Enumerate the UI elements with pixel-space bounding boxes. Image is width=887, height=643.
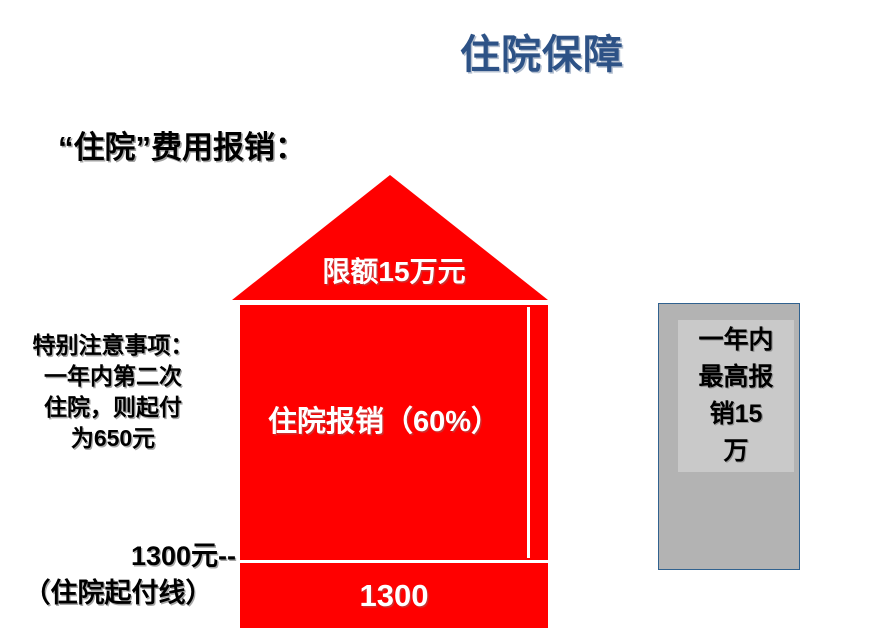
house-body-label: 住院报销（60%） — [240, 398, 528, 440]
annual-cap-panel-text: 一年内 最高报 销15 万 — [678, 322, 794, 470]
special-note-line-1: 特别注意事项： — [2, 330, 224, 361]
deductible-callout: 1300元-- （住院起付线） — [4, 538, 236, 612]
special-note-line-3: 住院，则起付 — [2, 392, 224, 423]
slide-canvas: 住院保障 “住院”费用报销： 特别注意事项： 一年内第二次 住院，则起付 为65… — [0, 0, 887, 643]
special-note-block: 特别注意事项： 一年内第二次 住院，则起付 为650元 — [2, 330, 224, 454]
special-note-line-4: 为650元 — [2, 423, 224, 454]
house-roof-label: 限额15万元 — [240, 250, 548, 290]
section-subtitle: “住院”费用报销： — [58, 122, 306, 167]
special-note-line-2: 一年内第二次 — [2, 361, 224, 392]
annual-cap-line-3: 销15 — [678, 396, 794, 433]
annual-cap-line-4: 万 — [678, 433, 794, 470]
page-title: 住院保障 — [460, 22, 840, 80]
annual-cap-line-1: 一年内 — [678, 322, 794, 359]
annual-cap-line-2: 最高报 — [678, 359, 794, 396]
deductible-description: （住院起付线） — [4, 575, 236, 612]
house-base-label: 1300 — [240, 578, 548, 614]
deductible-amount: 1300元-- — [4, 538, 236, 575]
